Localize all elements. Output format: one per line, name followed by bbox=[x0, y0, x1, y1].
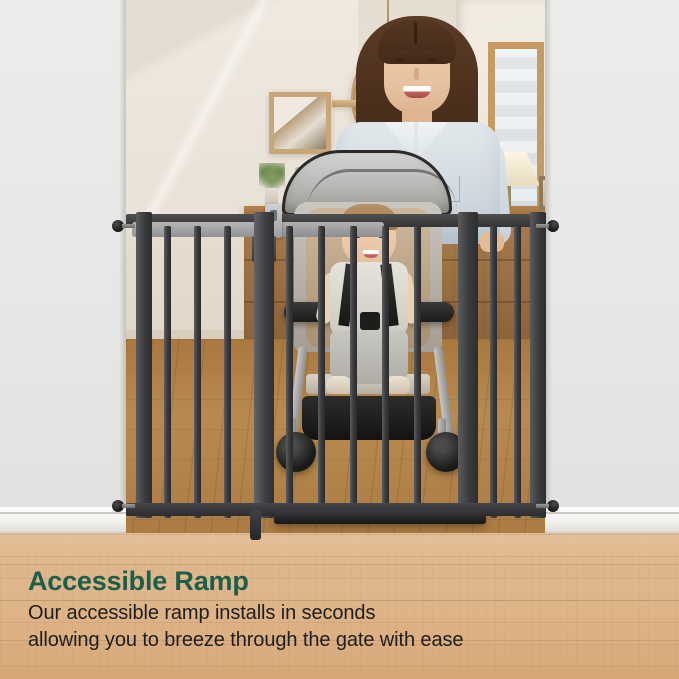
eyebrow-right bbox=[425, 51, 438, 54]
gate-floor-foot bbox=[250, 510, 261, 540]
hair-front bbox=[378, 20, 456, 64]
wall-left bbox=[0, 0, 126, 533]
pressure-mount-bolt-bottom-right bbox=[537, 500, 559, 512]
gate-bar bbox=[414, 226, 421, 518]
baseboard-left bbox=[0, 507, 126, 533]
pressure-mount-bolt-bottom-left bbox=[112, 500, 134, 512]
gate-bar bbox=[350, 226, 357, 518]
gate-bar bbox=[194, 226, 201, 518]
caption-title: Accessible Ramp bbox=[28, 566, 654, 596]
nose bbox=[414, 68, 419, 80]
caption-line-2: allowing you to breeze through the gate … bbox=[28, 627, 654, 654]
smiling-mouth bbox=[403, 86, 431, 98]
gate-bar bbox=[164, 226, 171, 518]
caption-block: Accessible Ramp Our accessible ramp inst… bbox=[28, 566, 654, 654]
accessible-ramp-threshold bbox=[274, 510, 486, 524]
gate-post-center bbox=[254, 212, 274, 518]
pressure-mount-bolt-top-left bbox=[112, 220, 134, 232]
eyebrow-left bbox=[394, 51, 407, 54]
baseboard-right bbox=[545, 507, 679, 533]
product-image-canvas: Accessible Ramp Our accessible ramp inst… bbox=[0, 0, 679, 679]
gate-bar bbox=[514, 226, 521, 518]
gate-bar bbox=[286, 226, 293, 518]
gate-post-right bbox=[458, 212, 478, 518]
eye-right bbox=[427, 58, 436, 62]
gate-bar bbox=[318, 226, 325, 518]
gate-post-left bbox=[136, 212, 152, 518]
wall-right bbox=[545, 0, 679, 533]
gate-post-far-right bbox=[530, 212, 546, 518]
gate-bar bbox=[224, 226, 231, 518]
caption-line-1: Our accessible ramp installs in seconds bbox=[28, 600, 654, 627]
baby-safety-gate bbox=[126, 206, 545, 538]
gate-bar bbox=[382, 226, 389, 518]
eye-left bbox=[396, 58, 405, 62]
gate-bar bbox=[490, 226, 497, 518]
swing-panel-rail-left bbox=[132, 222, 270, 237]
pressure-mount-bolt-top-right bbox=[537, 220, 559, 232]
hair-part bbox=[414, 22, 417, 44]
